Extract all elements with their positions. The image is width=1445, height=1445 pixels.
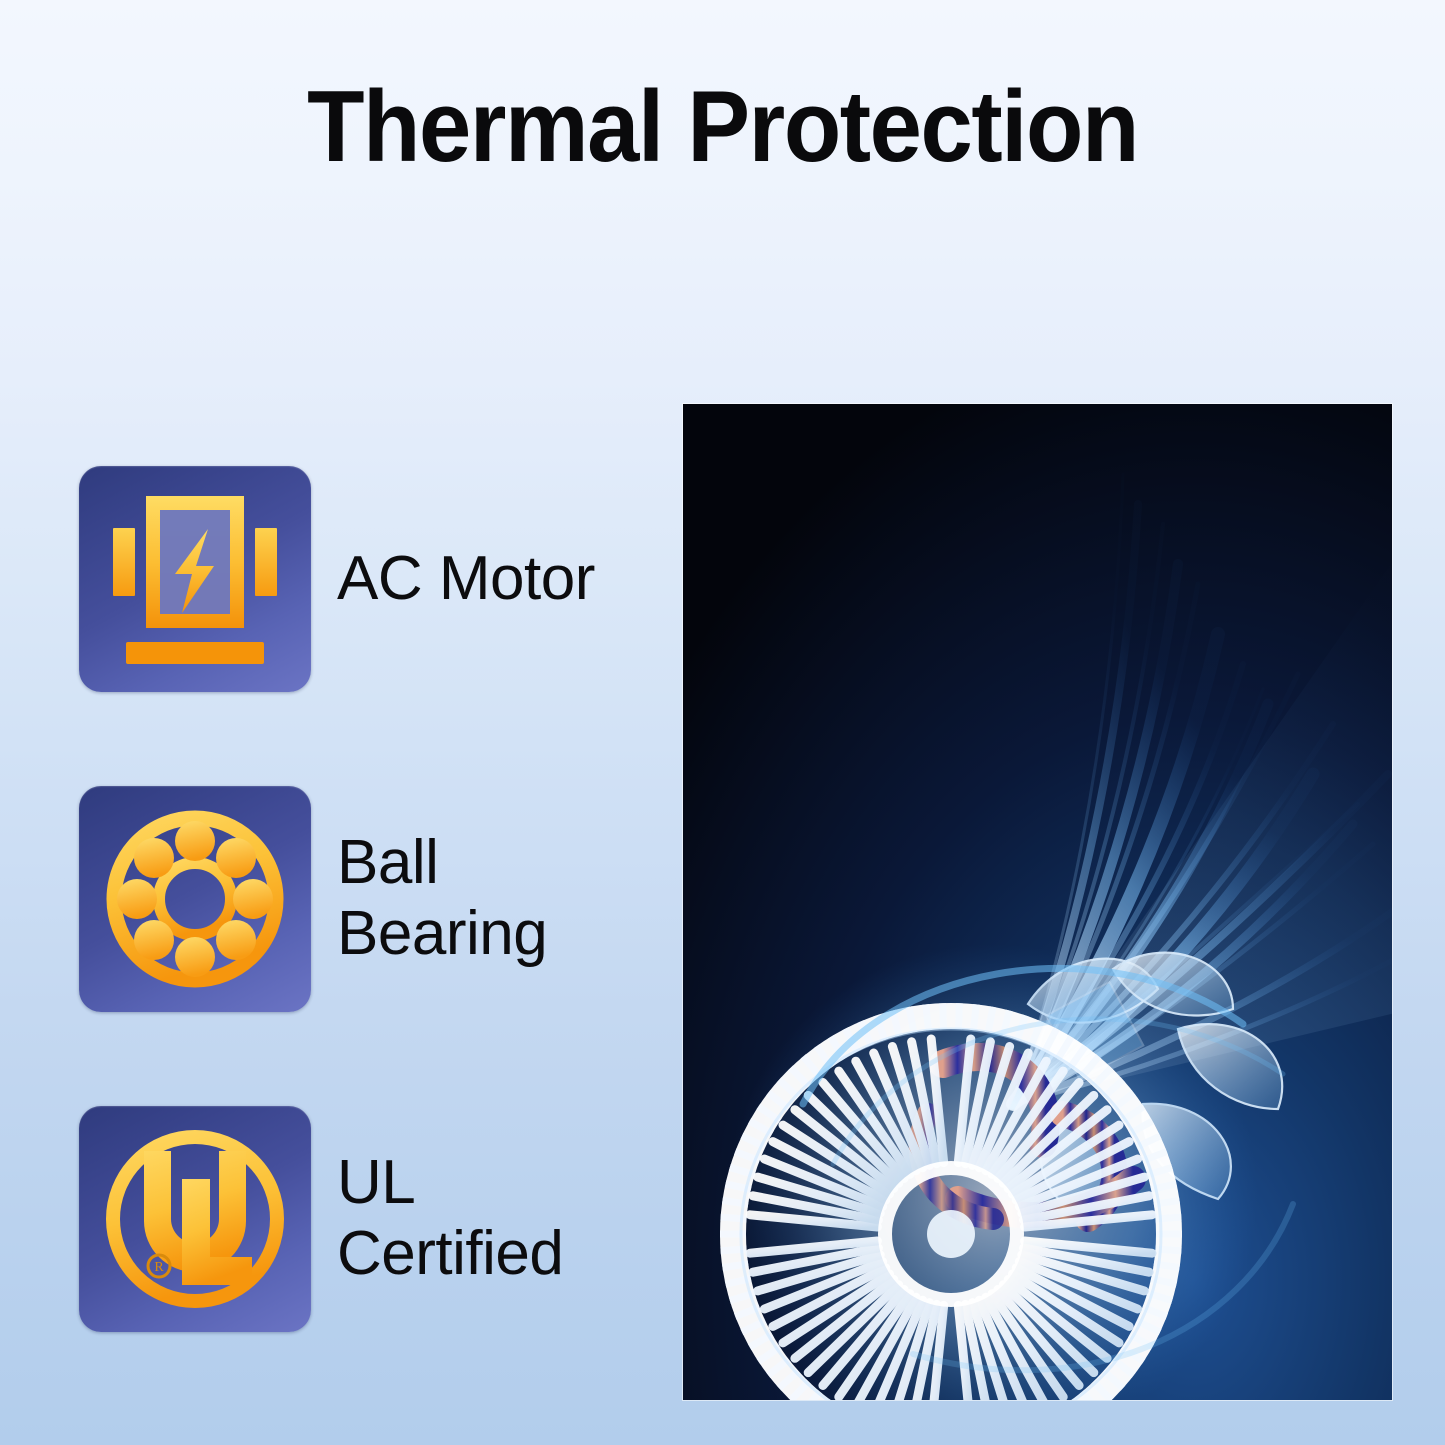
- ball-bearing-icon: [79, 786, 311, 1012]
- page-title: Thermal Protection: [51, 76, 1395, 179]
- fan-motor-airflow-photo: [683, 404, 1392, 1400]
- feature-label-ul-certified: UL Certified: [337, 1148, 563, 1289]
- svg-text:R: R: [154, 1260, 164, 1275]
- ul-certified-icon-tile: R: [79, 1106, 311, 1332]
- ac-motor-icon-tile: [79, 466, 311, 692]
- fan-motor-illustration: [683, 404, 1392, 1400]
- ul-certified-icon: R: [79, 1106, 311, 1332]
- ball-bearing-icon-tile: [79, 786, 311, 1012]
- feature-infographic: Thermal Protection: [0, 0, 1445, 1445]
- feature-label-ball-bearing: Ball Bearing: [337, 828, 547, 969]
- feature-item-ac-motor: AC Motor: [79, 466, 679, 692]
- feature-item-ul-certified: R UL Certified: [79, 1106, 679, 1332]
- feature-label-ac-motor: AC Motor: [337, 544, 595, 615]
- ac-motor-icon: [79, 466, 311, 692]
- feature-list: AC Motor: [79, 466, 679, 1332]
- feature-item-ball-bearing: Ball Bearing: [79, 786, 679, 1012]
